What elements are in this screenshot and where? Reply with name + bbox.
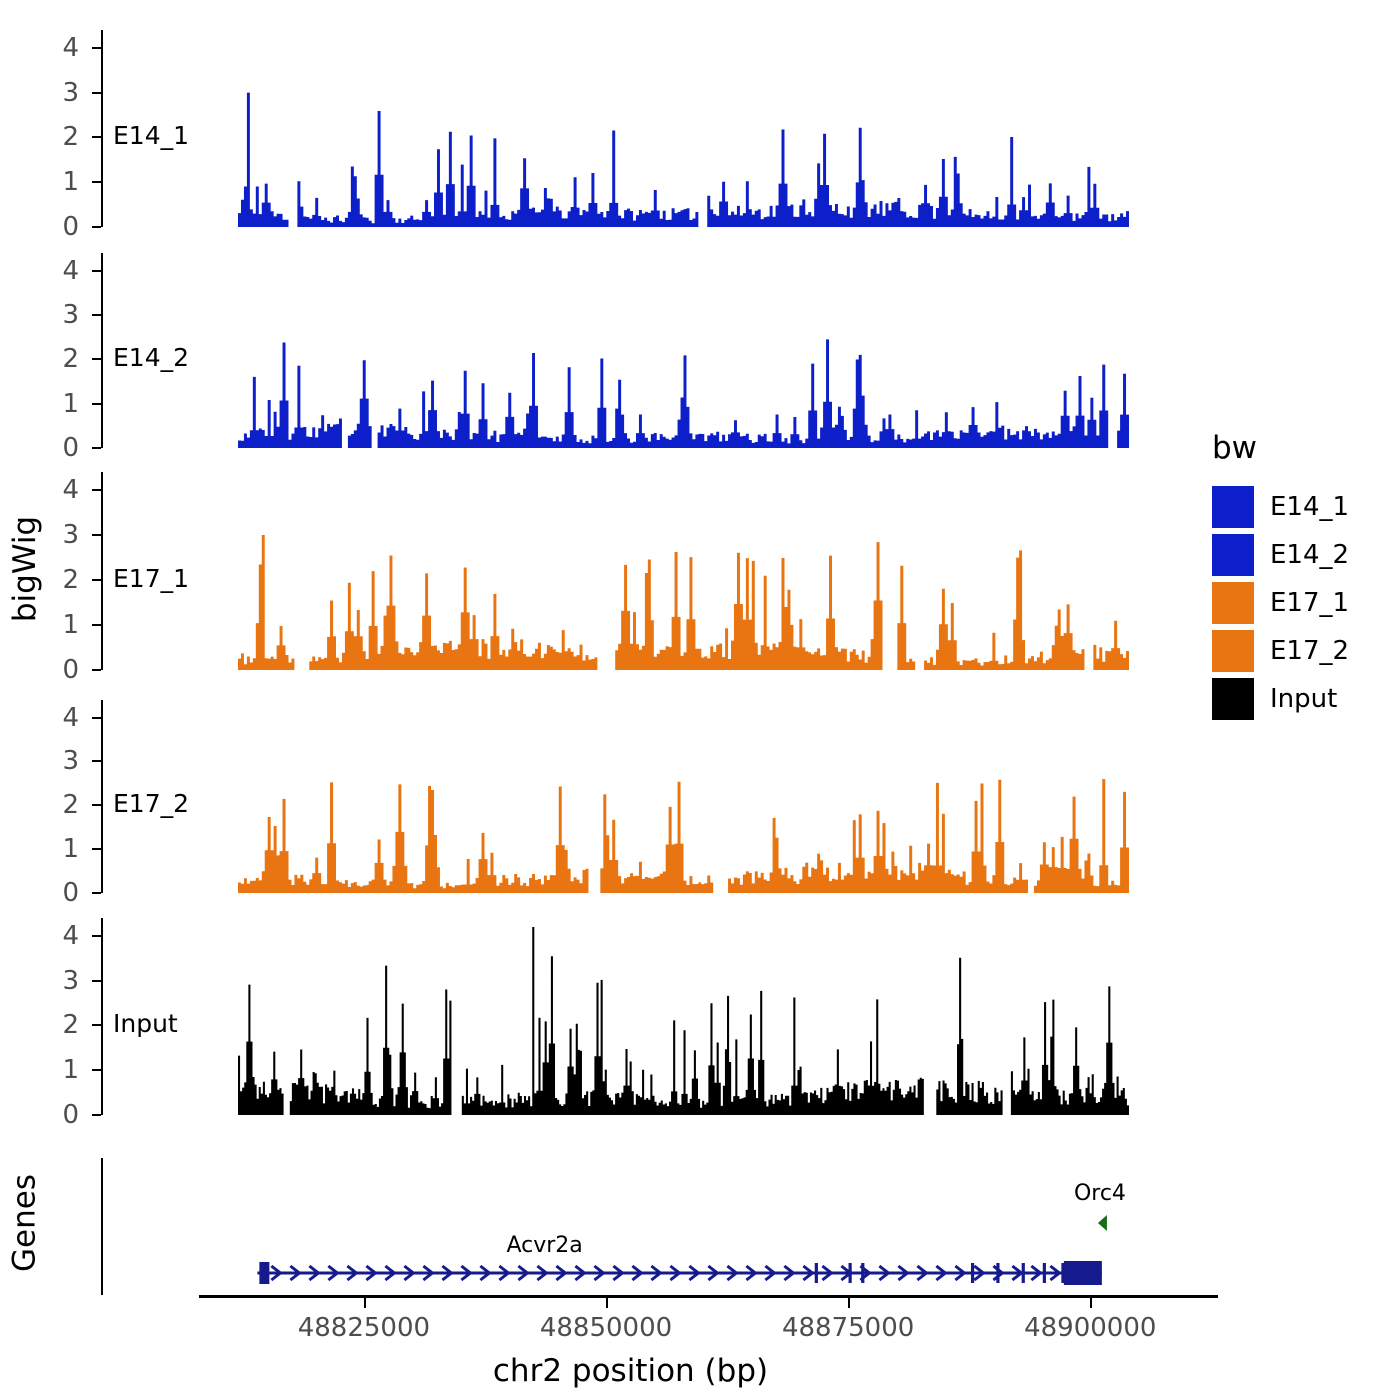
signal-area-e17_2: [238, 700, 1129, 893]
y-tick-label: 0: [33, 657, 79, 683]
y-tick-label: 4: [33, 35, 79, 61]
y-tick: [92, 980, 101, 982]
x-axis-title: chr2 position (bp): [101, 1353, 1160, 1389]
legend-item-input[interactable]: Input: [1212, 678, 1337, 720]
y-tick-label: 3: [33, 80, 79, 106]
legend-item-e14_2[interactable]: E14_2: [1212, 534, 1349, 576]
gene-exon: [996, 1263, 999, 1283]
track-panel-e14_1: 43210E14_1: [101, 30, 1160, 227]
y-axis-line: [101, 918, 103, 1115]
signal-path: [238, 535, 1129, 670]
y-tick-label: 4: [33, 258, 79, 284]
legend-label-e14_2: E14_2: [1270, 540, 1349, 570]
y-tick-label: 3: [33, 522, 79, 548]
signal-area-e14_2: [238, 253, 1129, 448]
track-label-input: Input: [113, 1009, 178, 1038]
y-tick: [92, 92, 101, 94]
y-tick: [92, 804, 101, 806]
y-tick-label: 2: [33, 792, 79, 818]
y-tick-label: 2: [33, 567, 79, 593]
y-tick: [92, 534, 101, 536]
y-tick: [92, 489, 101, 491]
y-tick: [92, 226, 101, 228]
legend-swatch-e17_2: [1212, 630, 1254, 672]
y-tick: [92, 848, 101, 850]
legend-title: bw: [1212, 430, 1257, 466]
y-tick-label: 4: [33, 923, 79, 949]
y-axis-line: [101, 700, 103, 893]
x-tick: [364, 1298, 366, 1308]
gene-exon: [849, 1263, 852, 1283]
y-tick-label: 3: [33, 968, 79, 994]
gene-exon: [1022, 1263, 1025, 1283]
y-tick-label: 0: [33, 880, 79, 906]
genes-axis-title: Genes: [7, 1150, 43, 1295]
gene-marker-orc4: [1098, 1215, 1107, 1231]
y-tick: [92, 314, 101, 316]
legend-swatch-e14_2: [1212, 534, 1254, 576]
signal-path: [238, 93, 1129, 227]
y-tick: [92, 1024, 101, 1026]
legend-item-e14_1[interactable]: E14_1: [1212, 486, 1349, 528]
y-tick: [92, 579, 101, 581]
y-tick: [92, 717, 101, 719]
y-tick: [92, 403, 101, 405]
y-tick-label: 0: [33, 435, 79, 461]
legend-label-e17_1: E17_1: [1270, 588, 1349, 618]
signal-path: [238, 779, 1129, 893]
x-tick-label: 48850000: [496, 1313, 716, 1343]
y-axis-line: [101, 30, 103, 227]
track-label-e14_1: E14_1: [113, 121, 189, 150]
y-tick-label: 1: [33, 836, 79, 862]
y-tick: [92, 760, 101, 762]
x-tick: [606, 1298, 608, 1308]
y-tick: [92, 1069, 101, 1071]
legend-label-e17_2: E17_2: [1270, 636, 1349, 666]
signal-area-e14_1: [238, 30, 1129, 227]
y-tick-label: 1: [33, 391, 79, 417]
legend-label-e14_1: E14_1: [1270, 492, 1349, 522]
gene-exon-start: [259, 1262, 269, 1284]
track-label-e17_1: E17_1: [113, 564, 189, 593]
y-tick: [92, 935, 101, 937]
x-tick-label: 48900000: [980, 1313, 1200, 1343]
y-tick: [92, 1114, 101, 1116]
x-axis-line: [199, 1295, 1218, 1298]
signal-path: [238, 339, 1129, 448]
y-tick: [92, 624, 101, 626]
x-tick-label: 48825000: [254, 1313, 474, 1343]
track-label-e14_2: E14_2: [113, 343, 189, 372]
y-tick: [92, 136, 101, 138]
y-axis-line: [101, 472, 103, 670]
legend-swatch-input: [1212, 678, 1254, 720]
y-tick-label: 0: [33, 1102, 79, 1128]
legend: bw E14_1E14_2E17_1E17_2Input: [1212, 430, 1392, 710]
y-tick-label: 1: [33, 1057, 79, 1083]
x-tick: [848, 1298, 850, 1308]
gene-exon-terminal: [1064, 1261, 1102, 1285]
y-tick-label: 4: [33, 705, 79, 731]
y-tick-label: 2: [33, 1012, 79, 1038]
y-tick-label: 4: [33, 477, 79, 503]
y-tick-label: 3: [33, 302, 79, 328]
legend-swatch-e14_1: [1212, 486, 1254, 528]
track-label-e17_2: E17_2: [113, 789, 189, 818]
y-tick: [92, 447, 101, 449]
gene-exon: [815, 1263, 818, 1283]
gene-exon: [1043, 1263, 1046, 1283]
y-tick-label: 0: [33, 214, 79, 240]
x-tick: [1090, 1298, 1092, 1308]
legend-item-e17_2[interactable]: E17_2: [1212, 630, 1349, 672]
y-axis-line: [101, 253, 103, 448]
legend-label-input: Input: [1270, 684, 1337, 714]
y-tick-label: 1: [33, 612, 79, 638]
y-tick: [92, 47, 101, 49]
y-tick: [92, 181, 101, 183]
track-panel-e14_2: 43210E14_2: [101, 253, 1160, 448]
genome-browser-figure: bigWig Genes 43210E14_143210E14_243210E1…: [0, 0, 1400, 1400]
y-tick: [92, 358, 101, 360]
gene-exon: [971, 1263, 974, 1283]
genes-track: [101, 1158, 1160, 1295]
signal-path: [238, 927, 1129, 1115]
legend-swatch-e17_1: [1212, 582, 1254, 624]
gene-exon: [861, 1263, 864, 1283]
y-tick-label: 3: [33, 748, 79, 774]
y-tick-label: 2: [33, 124, 79, 150]
y-tick: [92, 892, 101, 894]
track-panel-input: 43210Input: [101, 918, 1160, 1115]
y-tick-label: 2: [33, 346, 79, 372]
track-panel-e17_2: 43210E17_2: [101, 700, 1160, 893]
gene-label-acvr2a: Acvr2a: [445, 1233, 645, 1258]
legend-item-e17_1[interactable]: E17_1: [1212, 582, 1349, 624]
signal-area-input: [238, 918, 1129, 1115]
track-panel-e17_1: 43210E17_1: [101, 472, 1160, 670]
gene-label-orc4: Orc4: [1000, 1181, 1200, 1206]
x-tick-label: 48875000: [738, 1313, 958, 1343]
y-tick: [92, 669, 101, 671]
signal-area-e17_1: [238, 472, 1129, 670]
y-tick-label: 1: [33, 169, 79, 195]
y-tick: [92, 270, 101, 272]
